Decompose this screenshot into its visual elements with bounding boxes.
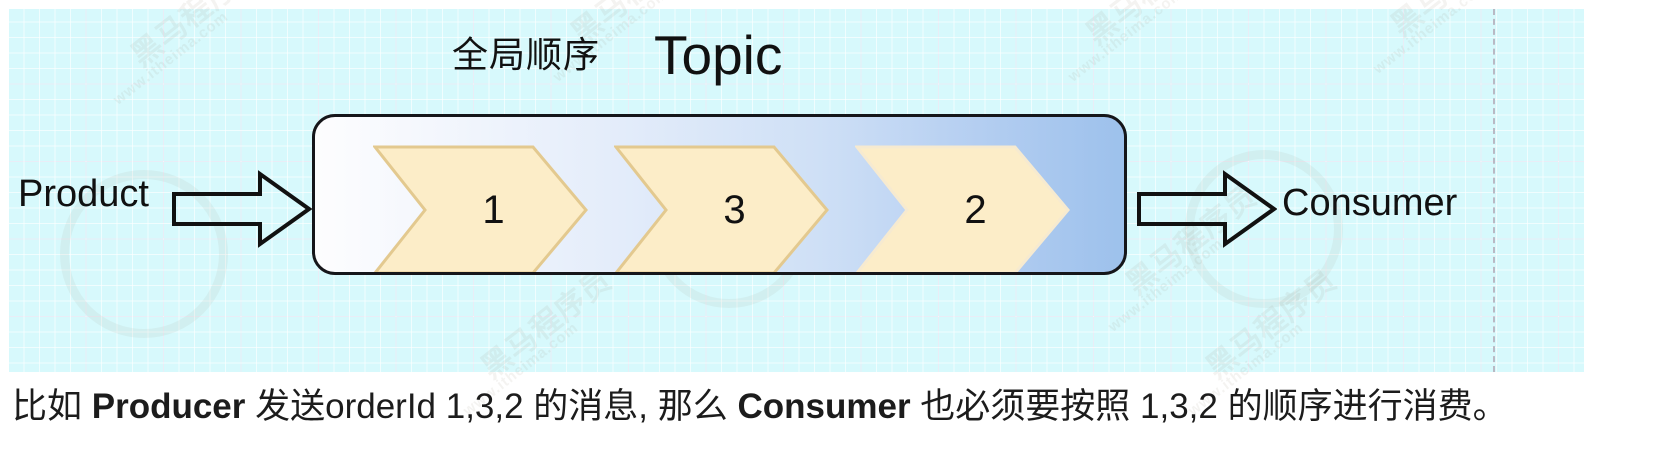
- message-chevron: 2: [855, 145, 1070, 275]
- message-number: 1: [373, 145, 588, 275]
- topic-title: Topic: [654, 28, 782, 83]
- message-number: 2: [855, 145, 1070, 275]
- caption-bold-term: Producer: [92, 387, 246, 426]
- caption-segment: 也必须要按照 1,3,2 的顺序进行消费。: [911, 387, 1508, 426]
- caption-text: 比如 Producer 发送orderId 1,3,2 的消息, 那么 Cons…: [12, 381, 1652, 434]
- message-chevron: 1: [373, 145, 588, 275]
- caption-bold-term: Consumer: [737, 387, 910, 426]
- message-number: 3: [614, 145, 829, 275]
- consumer-arrow-icon: [1137, 170, 1277, 248]
- caption-segment: 发送orderId 1,3,2 的消息, 那么: [245, 387, 737, 426]
- message-chevron: 3: [614, 145, 829, 275]
- consumer-label: Consumer: [1282, 184, 1457, 222]
- producer-label: Product: [18, 175, 149, 213]
- caption-segment: 比如: [12, 387, 92, 426]
- producer-arrow-icon: [172, 170, 312, 248]
- dashed-guide-line: [1493, 9, 1495, 372]
- global-order-label: 全局顺序: [452, 37, 600, 73]
- topic-partition-container: 1 3 2: [312, 114, 1127, 275]
